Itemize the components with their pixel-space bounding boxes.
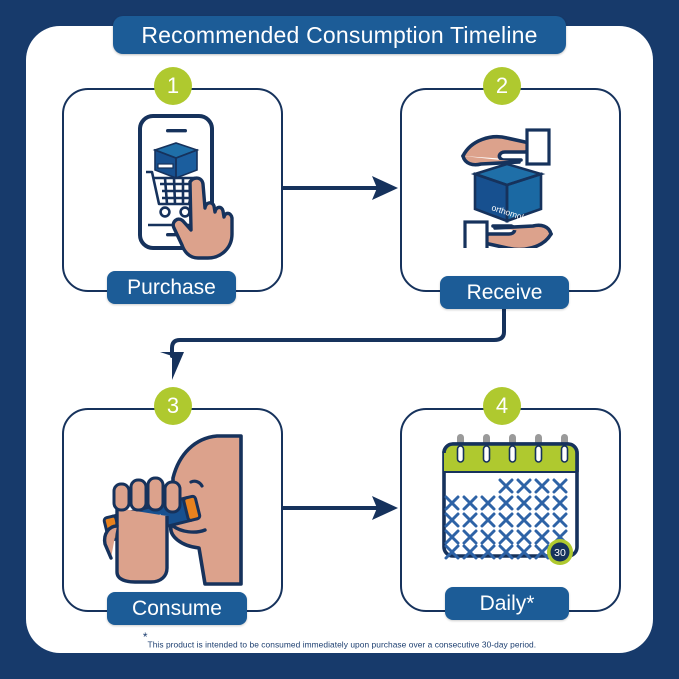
step-badge-4: 4 [483,387,521,425]
step-label-purchase[interactable]: Purchase [107,271,236,304]
step-label-purchase-text: Purchase [127,276,216,300]
step-label-receive-text: Receive [467,281,543,305]
connector-receive-to-consume [160,300,504,380]
step-label-daily[interactable]: Daily* [445,587,569,620]
step-badge-2: 2 [483,67,521,105]
step-badge-3: 3 [154,387,192,425]
step-badge-3-number: 3 [167,395,179,417]
connector-purchase-to-receive [281,176,398,200]
step-badge-1: 1 [154,67,192,105]
step-badge-2-number: 2 [496,75,508,97]
connector-consume-to-daily [281,496,398,520]
step-badge-4-number: 4 [496,395,508,417]
step-label-consume-text: Consume [132,597,222,621]
infographic-root: Recommended Consumption Timeline 1 [0,0,679,679]
step-badge-1-number: 1 [167,75,179,97]
step-label-consume[interactable]: Consume [107,592,247,625]
step-label-daily-text: Daily* [480,592,535,616]
step-label-receive[interactable]: Receive [440,276,569,309]
connector-layer [0,0,679,679]
